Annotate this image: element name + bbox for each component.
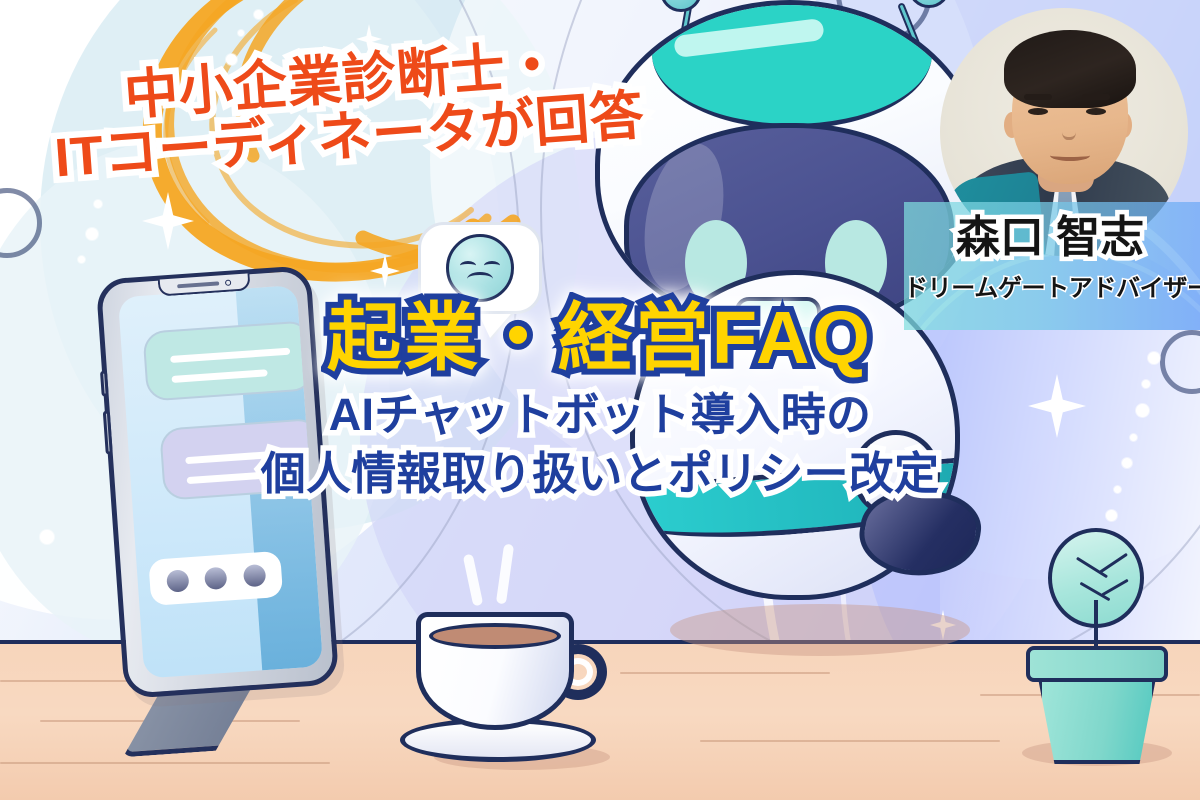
bead-dot [254,10,263,19]
robot-helmet-band [652,0,932,129]
worried-face-icon [446,234,514,302]
robot-shadow [670,604,970,656]
typing-indicator [148,551,283,606]
bead-dot [238,30,244,36]
bead-dot [86,228,98,240]
bead-dot [78,256,85,263]
banner-canvas: 中小企業診断士・ ITコーディネータが回答 起業・経営FAQ AIチャットボット… [0,0,1200,800]
potted-plant-illustration [1010,528,1190,760]
cup-body [416,612,574,730]
pot-body [1038,678,1156,764]
subtitle-line-1: AIチャットボット導入時の [0,387,1200,444]
cup-liquid [429,623,561,649]
subtitle-line-2: 個人情報取り扱いとポリシー改定 [0,446,1200,503]
advisor-role: ドリームゲートアドバイザー [904,276,1194,302]
bead-dot [1106,510,1117,521]
bead-dot [94,200,102,208]
main-title-group: 起業・経営FAQ AIチャットボット導入時の 個人情報取り扱いとポリシー改定 [0,300,1200,502]
coffee-cup-illustration [398,600,613,770]
bead-dot [40,530,54,544]
pot-rim [1026,646,1168,682]
advisor-name: 森口 智志 [910,214,1190,262]
